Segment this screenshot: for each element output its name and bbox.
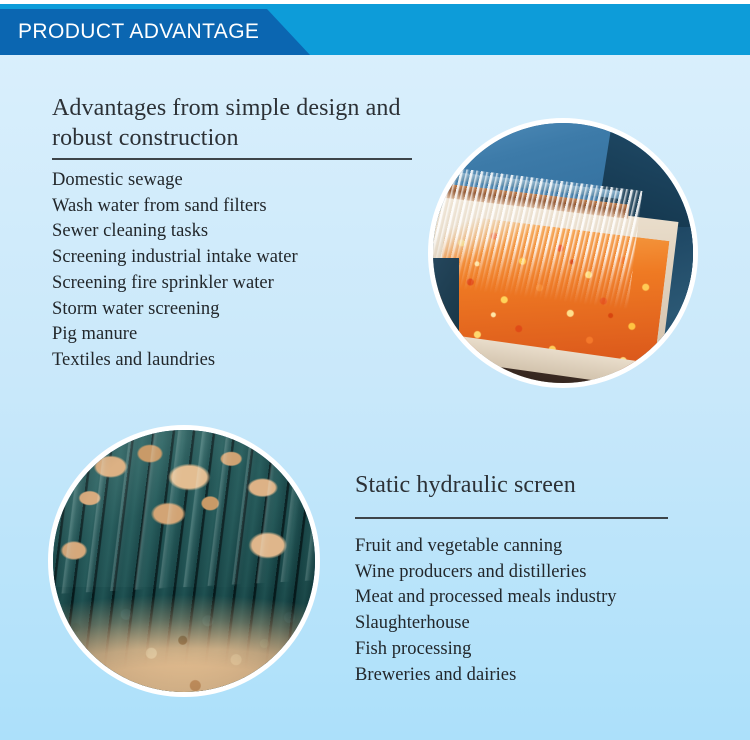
- list-item: Sewer cleaning tasks: [52, 219, 432, 245]
- section-divider-1: [52, 158, 412, 160]
- list-item: Breweries and dairies: [355, 663, 695, 689]
- section-divider-2: [355, 517, 668, 519]
- page-title: PRODUCT ADVANTAGE: [18, 18, 259, 46]
- list-item: Pig manure: [52, 322, 432, 348]
- section-heading-static-hydraulic-screen: Static hydraulic screen: [355, 470, 695, 500]
- list-item: Screening industrial intake water: [52, 245, 432, 271]
- section-heading-advantages: Advantages from simple design and robust…: [52, 93, 432, 153]
- photo-wedge-wire-screen-image: [53, 430, 315, 692]
- product-advantage-page: PRODUCT ADVANTAGE Advantages from simple…: [0, 0, 750, 740]
- photo1-shadow-left: [433, 258, 459, 378]
- photo-screening-machine: [428, 118, 698, 388]
- list-item: Fish processing: [355, 637, 695, 663]
- list-item: Fruit and vegetable canning: [355, 534, 695, 560]
- feature-list-advantages: Domestic sewage Wash water from sand fil…: [52, 168, 432, 374]
- list-item: Slaughterhouse: [355, 611, 695, 637]
- page-header: PRODUCT ADVANTAGE: [0, 0, 750, 58]
- list-item: Textiles and laundries: [52, 348, 432, 374]
- feature-list-applications: Fruit and vegetable canning Wine produce…: [355, 534, 695, 688]
- photo2-vignette: [53, 430, 315, 692]
- photo1-water-curtain: [433, 166, 642, 309]
- list-item: Wine producers and distilleries: [355, 560, 695, 586]
- list-item: Wash water from sand filters: [52, 194, 432, 220]
- list-item: Domestic sewage: [52, 168, 432, 194]
- photo-wedge-wire-screen: [48, 425, 320, 697]
- list-item: Meat and processed meals industry: [355, 585, 695, 611]
- list-item: Screening fire sprinkler water: [52, 271, 432, 297]
- photo-screening-machine-image: [433, 123, 693, 383]
- list-item: Storm water screening: [52, 297, 432, 323]
